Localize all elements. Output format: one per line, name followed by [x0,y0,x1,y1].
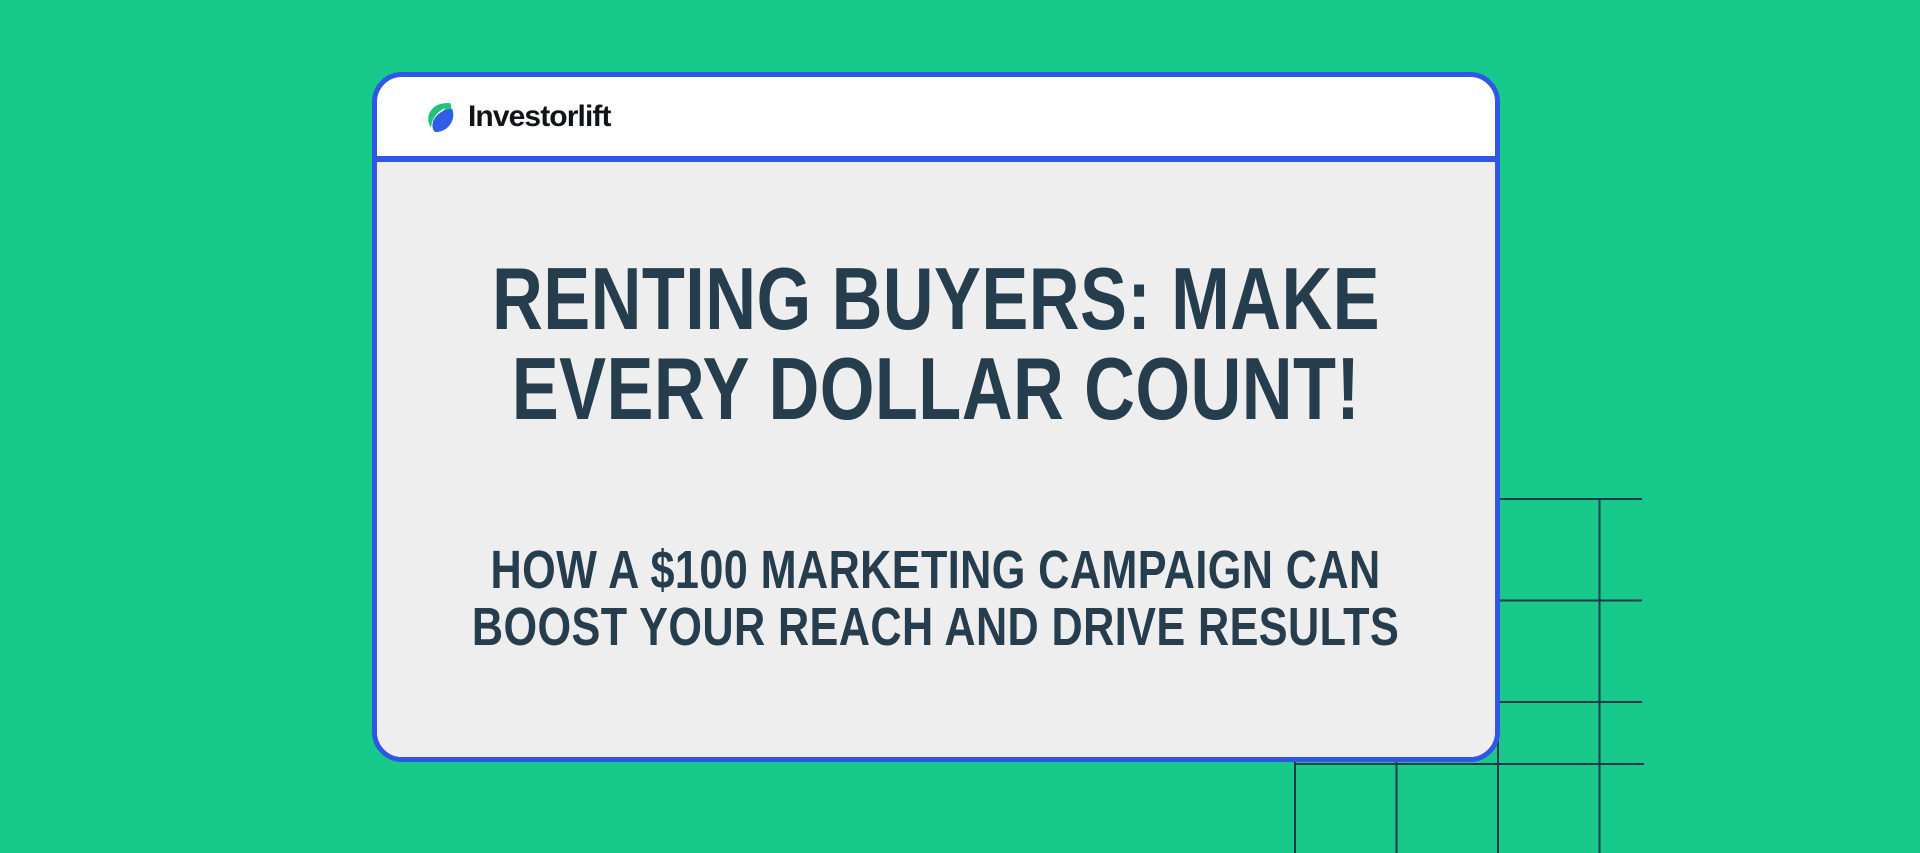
brand-wordmark: Investorlift [468,102,611,132]
card-body: RENTING BUYERS: MAKE EVERY DOLLAR COUNT!… [377,162,1495,757]
headline-line-2: EVERY DOLLAR COUNT! [492,344,1380,434]
subheadline-line-1: HOW A $100 MARKETING CAMPAIGN CAN [472,542,1399,599]
headline: RENTING BUYERS: MAKE EVERY DOLLAR COUNT! [381,254,1491,434]
slide-card: Investorlift RENTING BUYERS: MAKE EVERY … [372,72,1500,762]
card-header: Investorlift [377,77,1495,156]
grid-pattern-lower [1294,763,1644,853]
subheadline: HOW A $100 MARKETING CAMPAIGN CAN BOOST … [372,542,1500,656]
brand-logo[interactable]: Investorlift [421,99,611,135]
subheadline-line-2: BOOST YOUR REACH AND DRIVE RESULTS [472,599,1399,656]
investorlift-leaf-logo-icon [421,99,457,135]
headline-line-1: RENTING BUYERS: MAKE [492,254,1380,344]
